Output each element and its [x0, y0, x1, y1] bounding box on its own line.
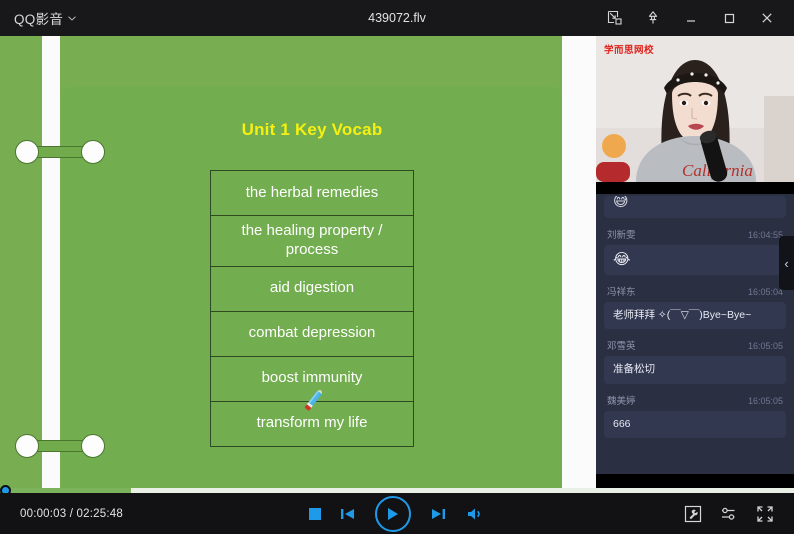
barbell-decoration-icon — [14, 432, 106, 460]
chat-header: 邓雪英 16:05:05 — [604, 338, 786, 356]
app-brand[interactable]: QQ影音 — [14, 8, 76, 28]
secondary-controls — [684, 505, 774, 523]
table-row: the herbal remedies — [211, 171, 413, 216]
chat-bubble: 666 — [604, 411, 786, 439]
chat-sender-name: 魏美婷 — [607, 393, 636, 407]
chat-header: 冯祥东 16:05:04 — [604, 284, 786, 302]
chat-timestamp: 16:05:05 — [748, 341, 783, 351]
barbell-decoration-icon — [14, 138, 106, 166]
chat-header: 魏美婷 16:05:05 — [604, 393, 786, 411]
chat-bubble: 准备松切 — [604, 356, 786, 384]
chat-bubble: 老师拜拜 ✧(￣▽￣)Bye~Bye~ — [604, 302, 786, 330]
list-item: 😅 — [604, 196, 786, 218]
title-bar: QQ影音 439072.flv — [0, 0, 794, 36]
panel-bottom-mask — [596, 474, 794, 488]
live-side-panel: California 学而思网校 😅 刘新雯 16:04:55 — [596, 36, 794, 488]
table-row: combat depression — [211, 312, 413, 357]
chat-emoji: 😅 — [613, 196, 629, 212]
chat-bubble: 😅 — [604, 196, 786, 218]
screenshot-tool-button[interactable] — [684, 505, 702, 523]
slide-card: Unit 1 Key Vocab the herbal remedies the… — [62, 86, 562, 488]
video-stage[interactable]: Unit 1 Key Vocab the herbal remedies the… — [0, 36, 596, 488]
list-item: 魏美婷 16:05:05 666 — [604, 393, 786, 439]
play-button[interactable] — [375, 496, 411, 532]
chat-sender-name: 冯祥东 — [607, 284, 636, 298]
minimize-icon[interactable] — [672, 0, 710, 36]
mini-player-icon[interactable] — [596, 0, 634, 36]
chat-header: 刘新雯 16:04:55 — [604, 227, 786, 245]
webcam-video[interactable]: California 学而思网校 — [596, 36, 794, 182]
panel-collapse-button[interactable]: ‹ — [779, 236, 794, 290]
settings-button[interactable] — [720, 505, 738, 523]
chat-timestamp: 16:04:55 — [748, 230, 783, 240]
time-display: 00:00:03 / 02:25:48 — [20, 508, 123, 520]
pencil-icon — [300, 388, 326, 414]
next-button[interactable] — [429, 506, 447, 522]
volume-button[interactable] — [465, 506, 485, 522]
webcam-watermark: 学而思网校 — [604, 42, 654, 56]
list-item: 邓雪英 16:05:05 准备松切 — [604, 338, 786, 384]
page-title: Unit 1 Key Vocab — [62, 120, 562, 140]
chevron-down-icon[interactable] — [68, 14, 76, 23]
chat-message-list[interactable]: 😅 刘新雯 16:04:55 😂 冯祥东 16:05:04 老师拜拜 ✧(￣▽￣… — [596, 182, 794, 488]
table-row: aid digestion — [211, 267, 413, 312]
chat-timestamp: 16:05:04 — [748, 287, 783, 297]
previous-button[interactable] — [339, 506, 357, 522]
app-brand-label: QQ影音 — [14, 8, 63, 28]
stop-button[interactable] — [309, 508, 321, 520]
chat-sender-name: 邓雪英 — [607, 338, 636, 352]
list-item: 冯祥东 16:05:04 老师拜拜 ✧(￣▽￣)Bye~Bye~ — [604, 284, 786, 330]
table-row: the healing property / process — [211, 216, 413, 267]
slide-right-strip — [562, 36, 596, 488]
player-window: QQ影音 439072.flv — [0, 0, 794, 534]
fullscreen-button[interactable] — [756, 505, 774, 523]
slide-left-strip — [42, 36, 60, 488]
chat-timestamp: 16:05:05 — [748, 396, 783, 406]
chat-bubble: 😂 — [604, 245, 786, 275]
pin-icon[interactable] — [634, 0, 672, 36]
close-icon[interactable] — [748, 0, 786, 36]
maximize-icon[interactable] — [710, 0, 748, 36]
chat-sender-name: 刘新雯 — [607, 227, 636, 241]
list-item: 刘新雯 16:04:55 😂 — [604, 227, 786, 275]
player-controls: 00:00:03 / 02:25:48 — [0, 493, 794, 534]
window-controls — [596, 0, 794, 36]
